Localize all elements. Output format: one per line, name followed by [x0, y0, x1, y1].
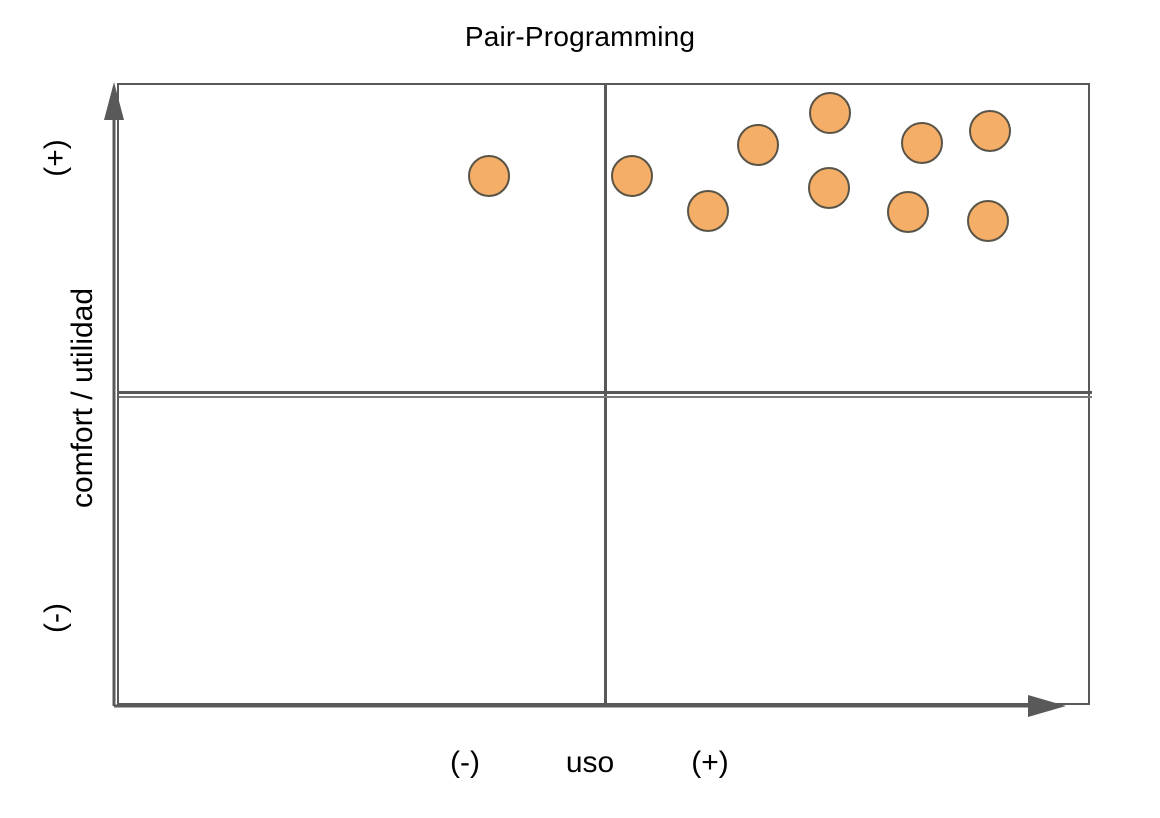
data-point: [967, 200, 1009, 242]
data-point: [809, 92, 851, 134]
data-point: [611, 155, 653, 197]
data-point: [901, 122, 943, 164]
data-point: [687, 190, 729, 232]
data-points-layer: [0, 0, 1160, 818]
quadrant-chart: Pair-Programming (+) comfort / utilidad …: [0, 0, 1160, 818]
data-point: [808, 167, 850, 209]
data-point: [468, 155, 510, 197]
data-point: [737, 124, 779, 166]
data-point: [887, 191, 929, 233]
data-point: [969, 110, 1011, 152]
